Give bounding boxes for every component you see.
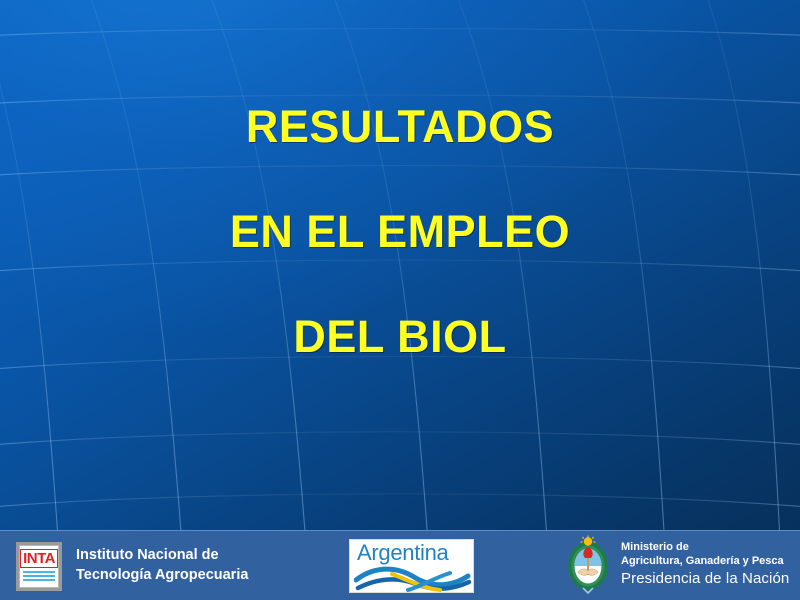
- title-line-3: DEL BIOL: [0, 314, 800, 359]
- slide-footer-bar: INTA Instituto Nacional de Tecnología Ag…: [0, 530, 800, 600]
- inta-logo-stripes: [23, 571, 55, 583]
- argentina-logo: Argentina: [349, 539, 474, 593]
- argentina-wordmark: Argentina: [357, 541, 448, 565]
- presentation-slide: RESULTADOS EN EL EMPLEO DEL BIOL INTA In…: [0, 0, 800, 600]
- argentina-wave-icon: [354, 564, 472, 593]
- ministerio-branding: Ministerio de Agricultura, Ganadería y P…: [565, 535, 789, 595]
- title-line-2: EN EL EMPLEO: [0, 209, 800, 254]
- inta-name-line-1: Instituto Nacional de: [76, 546, 248, 566]
- ministerio-line-2: Agricultura, Ganadería y Pesca: [621, 555, 789, 569]
- slide-title-block: RESULTADOS EN EL EMPLEO DEL BIOL: [0, 104, 800, 359]
- inta-branding: INTA Instituto Nacional de Tecnología Ag…: [16, 542, 248, 591]
- inta-logo-icon: INTA: [16, 542, 62, 591]
- ministerio-line-1: Ministerio de: [621, 541, 789, 555]
- title-line-1: RESULTADOS: [0, 104, 800, 149]
- inta-name-line-2: Tecnología Agropecuaria: [76, 566, 248, 586]
- inta-logo-wordmark: INTA: [20, 549, 58, 568]
- ministerio-text: Ministerio de Agricultura, Ganadería y P…: [621, 541, 789, 588]
- ministerio-line-3: Presidencia de la Nación: [621, 570, 789, 589]
- inta-name-text: Instituto Nacional de Tecnología Agropec…: [76, 546, 248, 585]
- argentina-coat-of-arms-icon: [565, 535, 611, 595]
